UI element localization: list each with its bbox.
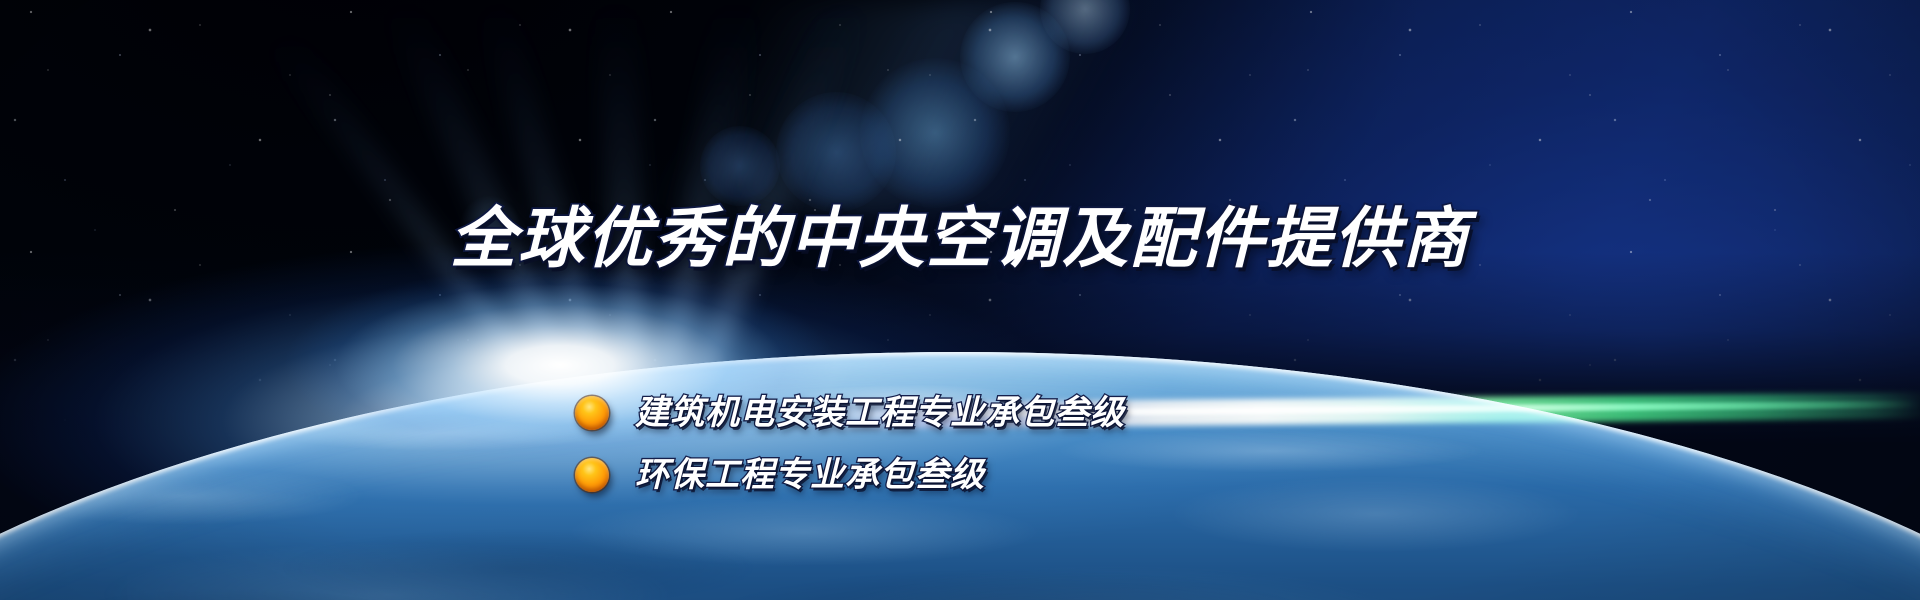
bullet-item-2-label: 环保工程专业承包叁级 bbox=[635, 458, 985, 492]
bullet-item-1-label: 建筑机电安装工程专业承包叁级 bbox=[635, 396, 1125, 430]
orange-dot-icon bbox=[575, 458, 609, 492]
bullet-item-1: 建筑机电安装工程专业承包叁级 bbox=[575, 382, 1125, 444]
hero-banner: 全球优秀的中央空调及配件提供商 建筑机电安装工程专业承包叁级 环保工程专业承包叁… bbox=[0, 0, 1920, 600]
banner-headline: 全球优秀的中央空调及配件提供商 bbox=[0, 206, 1920, 272]
orange-dot-icon bbox=[575, 396, 609, 430]
bullet-item-2: 环保工程专业承包叁级 bbox=[575, 444, 1125, 506]
banner-bullet-list: 建筑机电安装工程专业承包叁级 环保工程专业承包叁级 bbox=[575, 382, 1125, 506]
banner-content: 全球优秀的中央空调及配件提供商 建筑机电安装工程专业承包叁级 环保工程专业承包叁… bbox=[0, 0, 1920, 600]
